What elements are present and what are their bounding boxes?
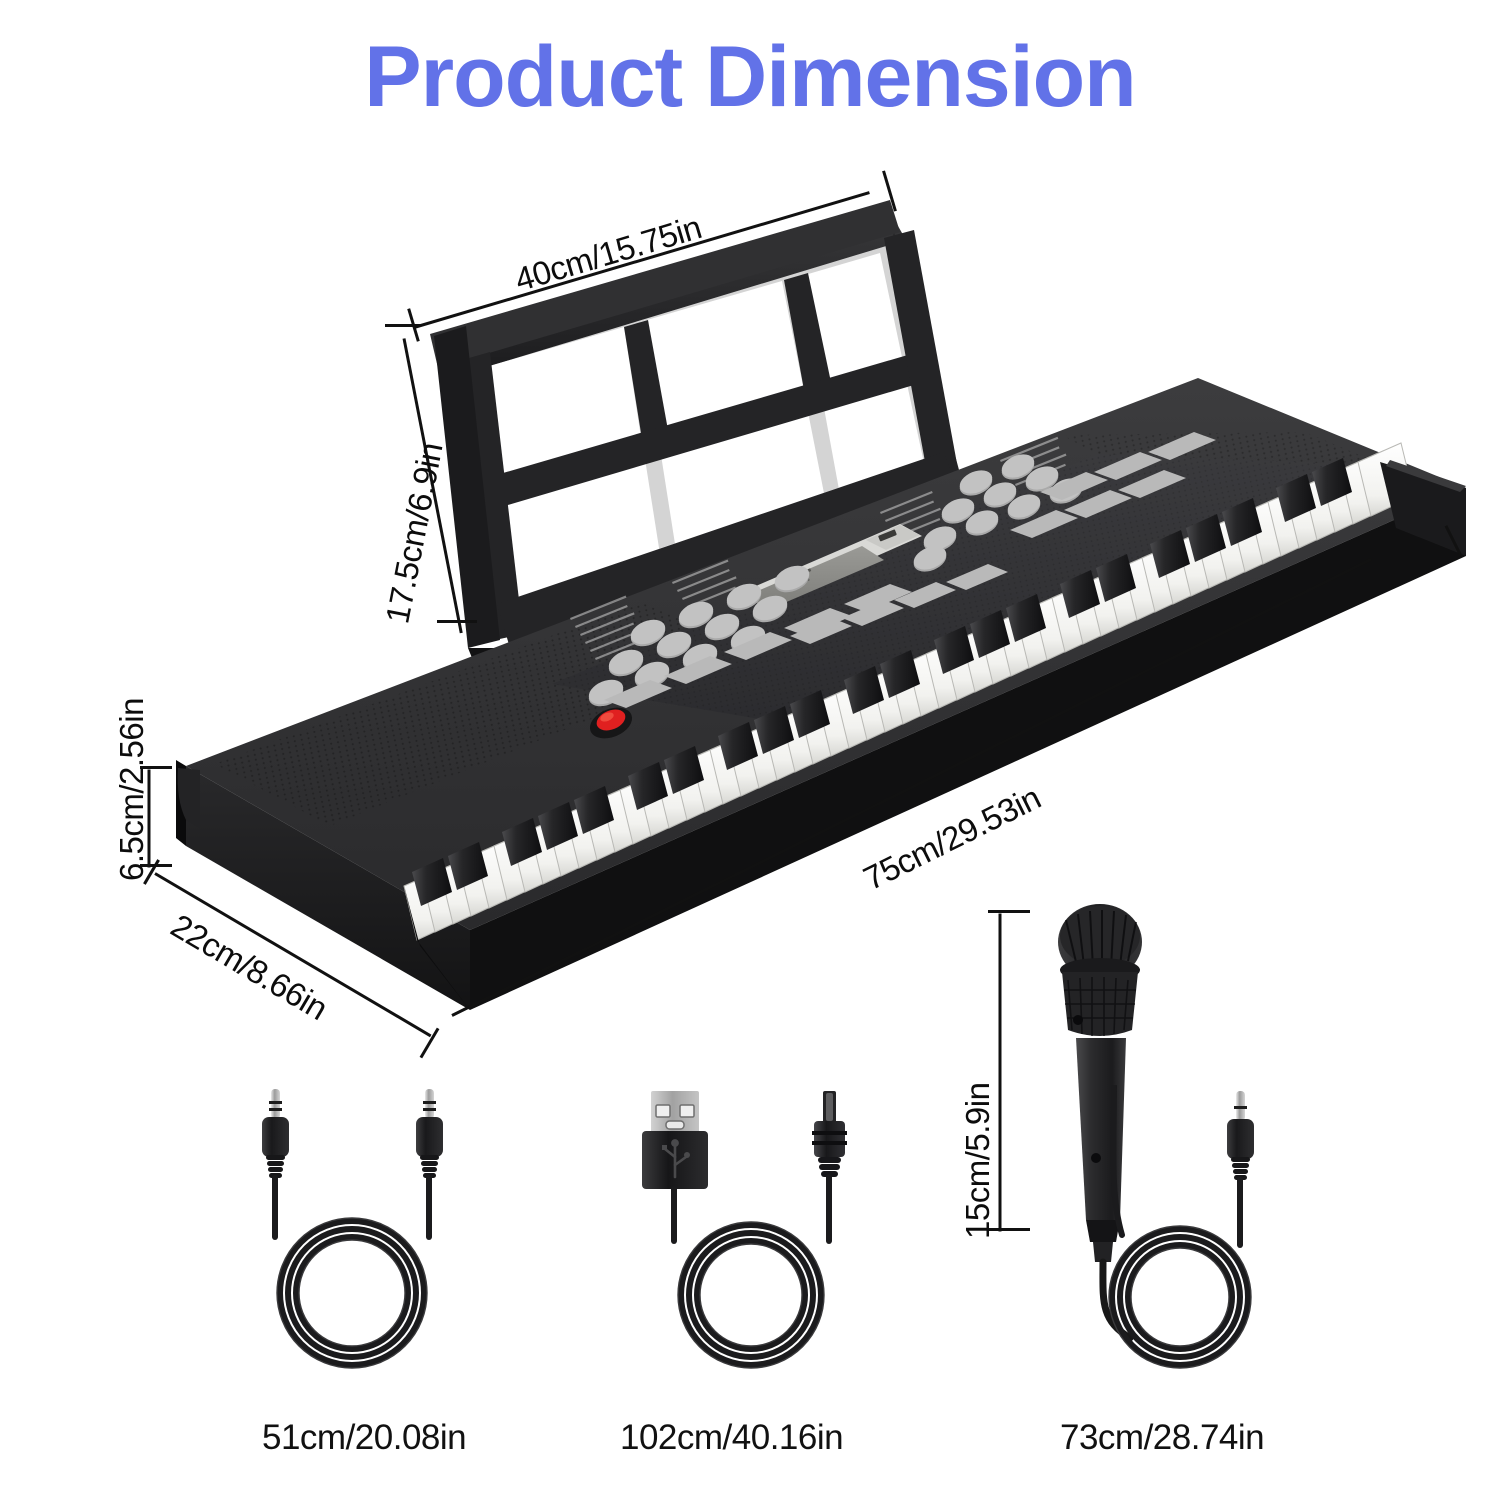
mono-plug <box>1227 1091 1254 1180</box>
dimension-label-microphone-length: 15cm/5.9in <box>959 1083 997 1239</box>
accessory-usb-power-cable <box>620 1085 920 1385</box>
usb-a-plug <box>642 1091 708 1189</box>
microphone-head <box>1058 904 1142 1036</box>
dc-barrel-plug <box>812 1091 847 1177</box>
accessory-label-usb-cable: 102cm/40.16in <box>620 1418 843 1458</box>
accessory-microphone-cable <box>1040 1085 1360 1385</box>
aux-plug-left <box>262 1089 289 1178</box>
accessory-audio-aux-cable <box>220 1085 520 1385</box>
product-dimension-infographic: Product Dimension <box>0 0 1500 1500</box>
dimension-label-keyboard-height: 6.5cm/2.56in <box>113 698 151 881</box>
aux-plug-right <box>416 1089 443 1178</box>
accessory-label-aux-cable: 51cm/20.08in <box>262 1418 466 1458</box>
accessory-label-microphone-cable: 73cm/28.74in <box>1060 1418 1264 1458</box>
